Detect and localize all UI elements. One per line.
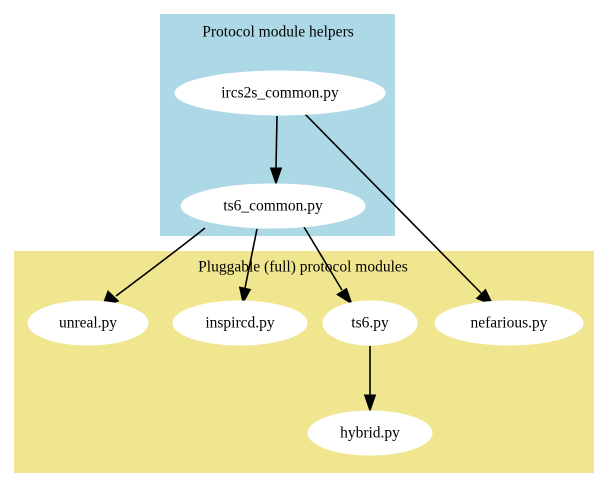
cluster-helpers-label: Protocol module helpers — [202, 24, 354, 41]
cluster-pluggable-rect — [14, 251, 594, 473]
diagram-canvas: Protocol module helpers Pluggable (full)… — [0, 0, 609, 490]
node-label: ts6.py — [351, 315, 389, 332]
cluster-pluggable-protocol-modules: Pluggable (full) protocol modules — [14, 251, 594, 473]
node-ircs2s_common[interactable]: ircs2s_common.py — [175, 71, 385, 115]
node-label: ts6_common.py — [223, 198, 323, 215]
node-inspircd[interactable]: inspircd.py — [173, 301, 307, 345]
node-ts6_common[interactable]: ts6_common.py — [181, 184, 365, 228]
cluster-pluggable-label: Pluggable (full) protocol modules — [198, 259, 408, 276]
edge-line — [276, 116, 277, 168]
node-label: unreal.py — [59, 315, 117, 332]
node-unreal[interactable]: unreal.py — [28, 301, 148, 345]
node-ts6[interactable]: ts6.py — [323, 301, 417, 345]
graph-svg: Protocol module helpers Pluggable (full)… — [0, 0, 609, 490]
node-label: ircs2s_common.py — [221, 85, 339, 102]
node-label: hybrid.py — [340, 425, 400, 442]
node-label: nefarious.py — [470, 315, 547, 332]
node-label: inspircd.py — [205, 315, 275, 332]
node-nefarious[interactable]: nefarious.py — [435, 301, 583, 345]
node-hybrid[interactable]: hybrid.py — [308, 411, 432, 455]
